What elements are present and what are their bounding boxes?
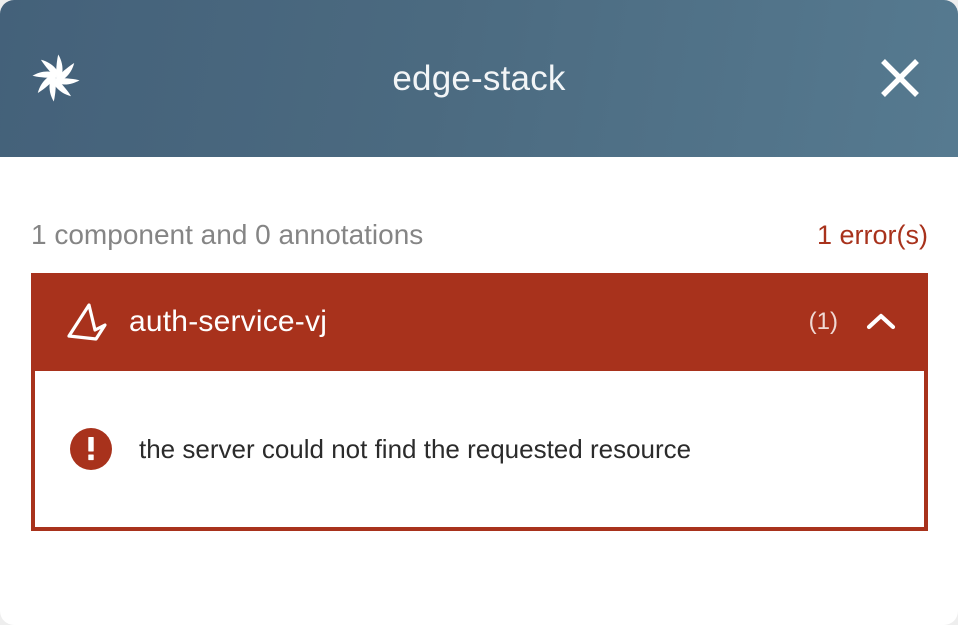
error-message-text: the server could not find the requested … (139, 434, 691, 465)
component-error-list: the server could not find the requested … (31, 371, 928, 531)
list-item: the server could not find the requested … (69, 427, 691, 471)
dialog-title: edge-stack (0, 59, 958, 99)
component-card: auth-service-vj (1) the server could not… (31, 273, 928, 531)
dialog-header: edge-stack (0, 0, 958, 157)
component-summary-text: 1 component and 0 annotations (31, 219, 423, 251)
component-name-label: auth-service-vj (129, 305, 809, 339)
chevron-up-icon[interactable] (864, 305, 898, 339)
component-header-auth-service-vj[interactable]: auth-service-vj (1) (31, 273, 928, 371)
error-count-badge: 1 error(s) (817, 220, 928, 251)
error-exclamation-icon (69, 427, 113, 471)
edge-stack-dialog: edge-stack 1 component and 0 annotations… (0, 0, 958, 625)
summary-row: 1 component and 0 annotations 1 error(s) (0, 157, 958, 251)
close-icon[interactable] (872, 50, 928, 106)
component-error-count: (1) (809, 308, 838, 336)
mapping-arrow-icon (65, 300, 109, 344)
